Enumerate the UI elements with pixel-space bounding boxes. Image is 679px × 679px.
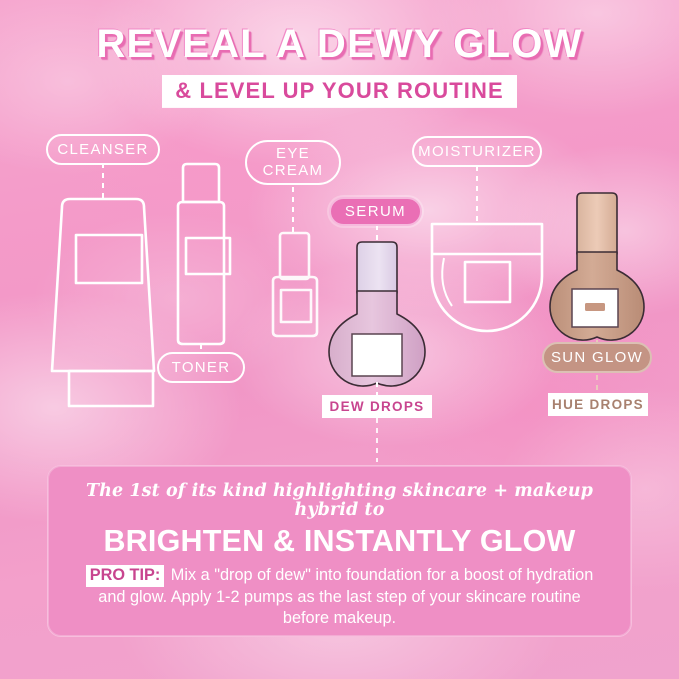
page-title: REVEAL A DEWY GLOW xyxy=(0,24,679,64)
panel-headline: BRIGHTEN & INSTANTLY GLOW xyxy=(74,525,605,558)
step-pill-moisturizer[interactable]: MOISTURIZER xyxy=(412,136,542,167)
info-panel: The 1st of its kind highlighting skincar… xyxy=(47,465,632,637)
subtitle-wrap: & LEVEL UP YOUR ROUTINE xyxy=(162,75,516,107)
step-pill-eye-cream[interactable]: EYE CREAM xyxy=(245,140,341,185)
step-pill-serum[interactable]: SERUM xyxy=(329,197,422,226)
product-tag-dew-drops[interactable]: DEW DROPS xyxy=(322,395,432,418)
step-pill-toner[interactable]: TONER xyxy=(157,352,245,383)
infographic-canvas: REVEAL A DEWY GLOW & LEVEL UP YOUR ROUTI… xyxy=(0,0,679,679)
routine-steps: CLEANSER TONER EYE CREAM SERUM MOISTURIZ… xyxy=(0,124,679,434)
step-pill-cleanser[interactable]: CLEANSER xyxy=(46,134,160,165)
pro-tip-badge: PRO TIP: xyxy=(86,565,165,586)
product-tag-hue-drops[interactable]: HUE DROPS xyxy=(548,393,648,416)
step-pill-sun-glow[interactable]: SUN GLOW xyxy=(542,342,652,373)
page-subtitle: & LEVEL UP YOUR ROUTINE xyxy=(162,75,516,107)
pro-tip-text: Mix a "drop of dew" into foundation for … xyxy=(98,566,593,626)
header: REVEAL A DEWY GLOW & LEVEL UP YOUR ROUTI… xyxy=(0,24,679,107)
panel-tagline: The 1st of its kind highlighting skincar… xyxy=(74,482,605,521)
step-pill-eye-cream-line2: CREAM xyxy=(263,163,324,180)
step-pill-eye-cream-line1: EYE xyxy=(276,146,310,163)
panel-body: PRO TIP: Mix a "drop of dew" into founda… xyxy=(74,565,605,629)
